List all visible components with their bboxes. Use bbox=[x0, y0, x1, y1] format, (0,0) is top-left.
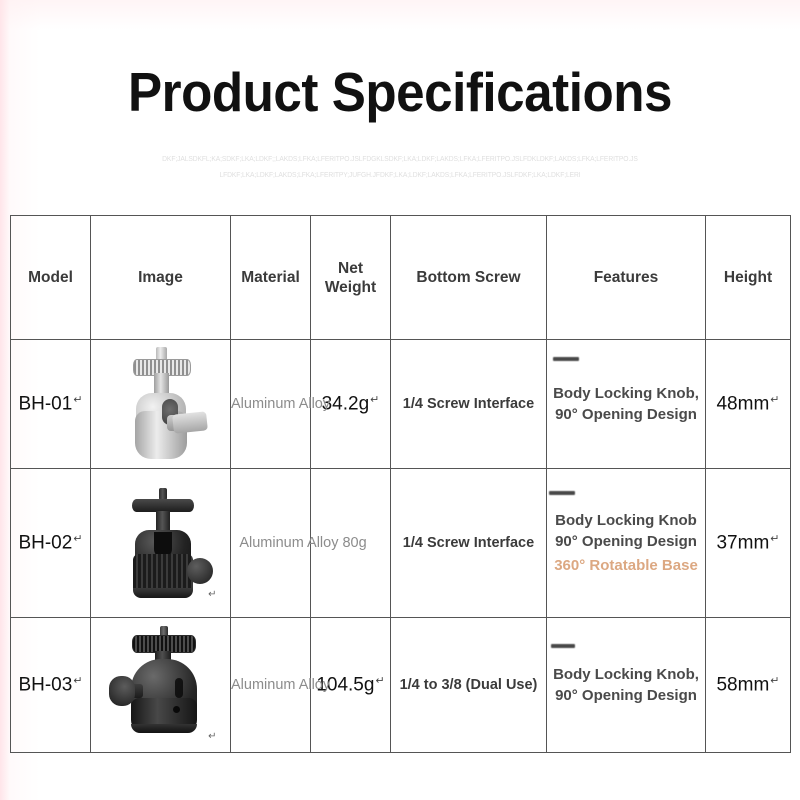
page-title: Product Specifications bbox=[28, 60, 772, 124]
base-ring-icon bbox=[133, 588, 193, 598]
return-mark-icon: ↵ bbox=[73, 394, 82, 406]
column-header-net-weight: Net Weight bbox=[311, 216, 391, 340]
cell-bottom-screw: 1/4 to 3/8 (Dual Use) bbox=[391, 618, 547, 753]
features-value: Body Locking Knob, 90° Opening Design bbox=[547, 383, 705, 425]
model-value: BH-02 bbox=[18, 532, 72, 553]
specifications-table: Model Image Material Net Weight Bottom S… bbox=[10, 215, 791, 753]
material-value: Aluminum Alloy 80g bbox=[228, 533, 378, 553]
cell-height: 37mm↵ bbox=[706, 469, 791, 618]
product-image-bh02: ↵ bbox=[101, 484, 221, 602]
table-header-row: Model Image Material Net Weight Bottom S… bbox=[11, 216, 791, 340]
cell-material: Aluminum Alloy bbox=[231, 340, 311, 469]
return-mark-icon: ↵ bbox=[770, 675, 779, 687]
table-row: BH-03↵ ↵ bbox=[11, 618, 791, 753]
column-header-model-label: Model bbox=[11, 268, 90, 287]
height-value: 37mm bbox=[716, 532, 769, 553]
column-header-features-label: Features bbox=[547, 268, 705, 287]
column-header-net-weight-line1: Net bbox=[311, 259, 390, 278]
smudge-artifact bbox=[549, 491, 575, 495]
model-value: BH-03 bbox=[18, 674, 72, 695]
return-mark-icon: ↵ bbox=[375, 675, 384, 687]
product-image-bh03: ↵ bbox=[101, 626, 221, 744]
column-header-height: Height bbox=[706, 216, 791, 340]
subtitle-filler: DKF;JALSDKFL;KA;SDKF;LKA;LDKF;;LAKDS;LFK… bbox=[16, 152, 784, 184]
cell-bottom-screw: 1/4 Screw Interface bbox=[391, 469, 547, 618]
bottom-screw-value: 1/4 Screw Interface bbox=[391, 395, 546, 414]
column-header-image-label: Image bbox=[91, 268, 230, 287]
material-value: Aluminum Alloy bbox=[231, 394, 310, 414]
bottom-screw-value: 1/4 Screw Interface bbox=[391, 534, 546, 553]
cell-material: Aluminum Alloy 80g bbox=[231, 469, 311, 618]
cell-image bbox=[91, 340, 231, 469]
cell-image: ↵ bbox=[91, 469, 231, 618]
cell-height: 58mm↵ bbox=[706, 618, 791, 753]
locking-knob-icon bbox=[187, 558, 213, 584]
features-accent-value: 360° Rotatable Base bbox=[551, 555, 701, 576]
height-value: 48mm bbox=[716, 393, 769, 414]
cell-bottom-screw: 1/4 Screw Interface bbox=[391, 340, 547, 469]
cell-model: BH-02↵ bbox=[11, 469, 91, 618]
column-header-height-label: Height bbox=[706, 268, 790, 287]
cell-features: Body Locking Knob, 90° Opening Design bbox=[547, 340, 706, 469]
base-ring-icon bbox=[131, 724, 197, 733]
bottom-screw-value: 1/4 to 3/8 (Dual Use) bbox=[391, 676, 546, 695]
column-header-material-label: Material bbox=[231, 268, 310, 287]
column-header-features: Features bbox=[547, 216, 706, 340]
cell-features: Body Locking Knob 90° Opening Design 360… bbox=[547, 469, 706, 618]
locking-knob-icon bbox=[109, 676, 135, 706]
column-header-bottom-screw-label: Bottom Screw bbox=[391, 268, 546, 287]
table-row: BH-02↵ ↵ Aluminu bbox=[11, 469, 791, 618]
material-value: Aluminum Alloy bbox=[231, 675, 310, 695]
model-value: BH-01 bbox=[18, 393, 72, 414]
cell-features: Body Locking Knob, 90° Opening Design bbox=[547, 618, 706, 753]
smudge-artifact bbox=[551, 644, 575, 648]
product-image-bh01 bbox=[101, 345, 221, 463]
column-header-material: Material bbox=[231, 216, 311, 340]
cell-model: BH-01↵ bbox=[11, 340, 91, 469]
features-value-wrapper: Body Locking Knob 90° Opening Design 360… bbox=[547, 510, 705, 576]
cell-material: Aluminum Alloy bbox=[231, 618, 311, 753]
slide-content: Product Specifications DKF;JALSDKFL;KA;S… bbox=[0, 0, 800, 800]
column-header-bottom-screw: Bottom Screw bbox=[391, 216, 547, 340]
return-mark-icon: ↵ bbox=[770, 394, 779, 406]
column-header-net-weight-line2: Weight bbox=[311, 278, 390, 297]
ball-socket-icon bbox=[175, 678, 183, 698]
cell-image: ↵ bbox=[91, 618, 231, 753]
table-row: BH-01↵ Aluminum Alloy bbox=[11, 340, 791, 469]
features-value: Body Locking Knob 90° Opening Design bbox=[555, 512, 697, 550]
column-header-model: Model bbox=[11, 216, 91, 340]
return-mark-icon: ↵ bbox=[370, 394, 379, 406]
subtitle-line-1: DKF;JALSDKFL;KA;SDKF;LKA;LDKF;;LAKDS;LFK… bbox=[16, 152, 784, 168]
column-header-image: Image bbox=[91, 216, 231, 340]
features-value: Body Locking Knob, 90° Opening Design bbox=[547, 664, 705, 706]
side-hole-icon bbox=[173, 706, 180, 713]
return-mark-icon: ↵ bbox=[73, 533, 82, 545]
return-mark-icon: ↵ bbox=[770, 533, 779, 545]
cell-model: BH-03↵ bbox=[11, 618, 91, 753]
return-mark-icon: ↵ bbox=[73, 675, 82, 687]
subtitle-line-2: LFDKF;LKA;LDKF;LAKDS;LFKA;LFERITPY;JUFGH… bbox=[16, 168, 784, 184]
smudge-artifact bbox=[553, 357, 579, 361]
cell-height: 48mm↵ bbox=[706, 340, 791, 469]
height-value: 58mm bbox=[716, 674, 769, 695]
return-mark-icon: ↵ bbox=[208, 589, 216, 600]
return-mark-icon: ↵ bbox=[208, 731, 216, 742]
locking-lever-icon bbox=[172, 411, 208, 433]
